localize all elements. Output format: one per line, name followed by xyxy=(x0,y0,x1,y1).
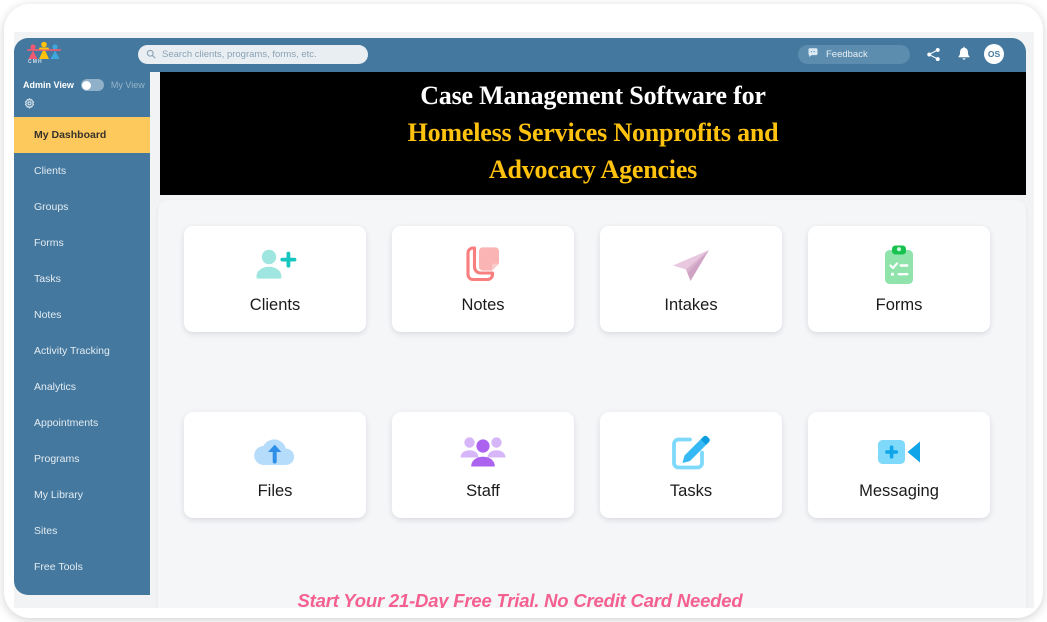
tile-label: Clients xyxy=(250,296,300,315)
tile-label: Tasks xyxy=(670,482,712,501)
search-input[interactable] xyxy=(162,49,362,60)
avatar[interactable]: OS xyxy=(984,44,1004,64)
edit-square-icon xyxy=(670,430,712,474)
sidebar-item-label: Sites xyxy=(34,525,57,537)
sidebar-item-label: My Library xyxy=(34,489,83,501)
sidebar-item-free-tools[interactable]: Free Tools xyxy=(14,549,150,585)
tile-label: Files xyxy=(258,482,293,501)
tile-label: Staff xyxy=(466,482,500,501)
sidebar-item-groups[interactable]: Groups xyxy=(14,189,150,225)
sidebar-item-label: Clients xyxy=(34,165,66,177)
sidebar-item-label: Groups xyxy=(34,201,68,213)
chat-bubble-icon xyxy=(807,46,819,64)
app-viewport: CMH Feedback xyxy=(14,32,1034,608)
banner-line-3: Advocacy Agencies xyxy=(489,153,697,188)
gear-icon[interactable] xyxy=(23,98,43,116)
sidebar-item-programs[interactable]: Programs xyxy=(14,441,150,477)
admin-view-label: Admin View xyxy=(23,80,74,90)
sidebar-item-activity-tracking[interactable]: Activity Tracking xyxy=(14,333,150,369)
sidebar: Admin View My View My Dashboard Clients … xyxy=(14,72,150,595)
promo-banner: Case Management Software for Homeless Se… xyxy=(160,72,1026,195)
sidebar-item-appointments[interactable]: Appointments xyxy=(14,405,150,441)
people-group-icon xyxy=(459,430,507,474)
sidebar-item-my-library[interactable]: My Library xyxy=(14,477,150,513)
add-person-icon xyxy=(252,244,298,288)
main-content-area: Case Management Software for Homeless Se… xyxy=(150,72,1026,595)
banner-line-1: Case Management Software for xyxy=(420,79,766,114)
sidebar-item-label: Appointments xyxy=(34,417,98,429)
cmh-logo-icon[interactable] xyxy=(22,40,66,70)
search-box[interactable] xyxy=(138,45,368,64)
my-view-label: My View xyxy=(111,80,145,90)
search-icon xyxy=(146,46,156,64)
logo-caption: CMH xyxy=(28,59,43,65)
cloud-upload-icon xyxy=(252,430,298,474)
sidebar-item-forms[interactable]: Forms xyxy=(14,225,150,261)
tile-notes[interactable]: Notes xyxy=(392,226,574,332)
sidebar-item-label: Free Tools xyxy=(34,561,83,573)
view-mode-toggle-row: Admin View My View xyxy=(14,72,150,98)
sidebar-item-label: Activity Tracking xyxy=(34,345,110,357)
sidebar-nav-list: My Dashboard Clients Groups Forms Tasks … xyxy=(14,117,150,585)
free-trial-cta: Start Your 21-Day Free Trial. No Credit … xyxy=(14,590,1026,608)
dashboard-tiles-grid: Clients Notes xyxy=(184,226,1000,518)
sidebar-item-sites[interactable]: Sites xyxy=(14,513,150,549)
tile-forms[interactable]: Forms xyxy=(808,226,990,332)
feedback-label: Feedback xyxy=(826,49,868,60)
top-bar: CMH Feedback xyxy=(14,38,1026,72)
sidebar-item-clients[interactable]: Clients xyxy=(14,153,150,189)
sidebar-item-my-dashboard[interactable]: My Dashboard xyxy=(14,117,150,153)
tile-tasks[interactable]: Tasks xyxy=(600,412,782,518)
dashboard-panel: Clients Notes xyxy=(158,200,1026,608)
video-add-icon xyxy=(876,430,922,474)
view-mode-switch[interactable] xyxy=(81,79,104,91)
sidebar-item-label: Analytics xyxy=(34,381,76,393)
tile-label: Intakes xyxy=(664,296,717,315)
sidebar-item-notes[interactable]: Notes xyxy=(14,297,150,333)
sidebar-item-label: My Dashboard xyxy=(34,129,106,141)
sidebar-item-label: Programs xyxy=(34,453,80,465)
tile-label: Notes xyxy=(461,296,504,315)
tile-staff[interactable]: Staff xyxy=(392,412,574,518)
sidebar-item-label: Tasks xyxy=(34,273,61,285)
tile-label: Messaging xyxy=(859,482,939,501)
tile-clients[interactable]: Clients xyxy=(184,226,366,332)
share-icon[interactable] xyxy=(925,46,942,68)
sidebar-item-tasks[interactable]: Tasks xyxy=(14,261,150,297)
banner-line-2: Homeless Services Nonprofits and xyxy=(408,116,779,151)
sidebar-item-analytics[interactable]: Analytics xyxy=(14,369,150,405)
clipboard-check-icon xyxy=(882,244,916,288)
tile-files[interactable]: Files xyxy=(184,412,366,518)
feedback-button[interactable]: Feedback xyxy=(798,45,910,64)
tile-intakes[interactable]: Intakes xyxy=(600,226,782,332)
tile-messaging[interactable]: Messaging xyxy=(808,412,990,518)
tile-label: Forms xyxy=(876,296,923,315)
note-icon xyxy=(462,244,504,288)
bell-icon[interactable] xyxy=(956,46,972,68)
sidebar-item-label: Notes xyxy=(34,309,61,321)
paper-plane-icon xyxy=(669,244,713,288)
sidebar-item-label: Forms xyxy=(34,237,64,249)
device-frame: CMH Feedback xyxy=(4,4,1043,618)
